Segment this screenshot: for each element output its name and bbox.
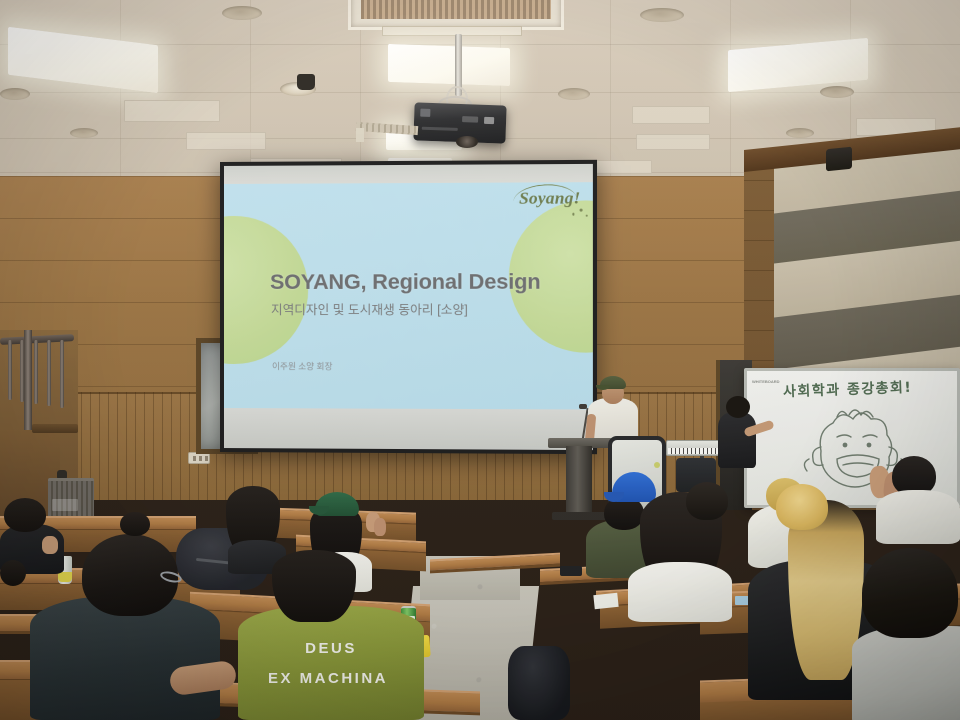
- projector-lens-icon: [456, 136, 478, 148]
- recessed-light: [640, 8, 684, 22]
- projection-screen: Soyang! SOYANG, Regional Design 지역디자인 및 …: [220, 160, 597, 454]
- ceiling-vent-frame: [382, 26, 522, 36]
- shirt-text-line-2: EX MACHINA: [238, 670, 418, 687]
- handrail-baluster: [47, 340, 51, 406]
- screen-top-margin: [224, 164, 593, 184]
- suitcase-sticker-icon: [654, 462, 660, 468]
- recessed-light: [222, 6, 262, 20]
- ceiling-access-panel: [186, 132, 266, 150]
- audience-member-head: [726, 396, 750, 418]
- slide-presenter-name: 이주원 소양 회장: [272, 360, 332, 372]
- whiteboard-brand-label: WHITEBOARD: [752, 379, 780, 384]
- audience-member-head: [0, 560, 26, 586]
- audience-member-body: [628, 562, 732, 622]
- slide-logo-text: Soyang!: [519, 188, 580, 209]
- ceiling-speaker-icon: [297, 74, 315, 90]
- slide-title: SOYANG, Regional Design: [270, 270, 541, 295]
- handrail-newel-post: [24, 330, 32, 430]
- audience-member-clapping-hand: [374, 518, 386, 536]
- blonde-bun-hair: [776, 484, 828, 530]
- projection-screen-surface: Soyang! SOYANG, Regional Design 지역디자인 및 …: [224, 164, 593, 450]
- projector-label: [462, 116, 478, 123]
- slide-logo-dot-icon: [572, 213, 575, 216]
- ceiling-access-panel: [124, 100, 220, 122]
- lectern-column: [566, 446, 592, 518]
- shirt-text-line-1: DEUS: [256, 640, 406, 657]
- lectern-base: [552, 512, 608, 520]
- recessed-light: [558, 88, 590, 100]
- paper-sheet[interactable]: [593, 593, 618, 609]
- wall-speaker-icon: [826, 147, 852, 172]
- deus-shirt-person-hair: [272, 550, 356, 622]
- audience-member-body: [876, 490, 960, 544]
- drink-cup-label: [58, 572, 72, 582]
- slide-subtitle: 지역디자인 및 도시재생 동아리 [소양]: [271, 299, 468, 318]
- slide-logo-dot-icon: [586, 215, 588, 217]
- stair-ledge: [32, 424, 78, 433]
- handrail-baluster: [60, 340, 64, 408]
- ceiling-light-panel: [8, 27, 158, 93]
- deus-shirt-person-body: [238, 606, 424, 720]
- lecture-hall-photo: Soyang! SOYANG, Regional Design 지역디자인 및 …: [0, 0, 960, 720]
- ceiling-access-panel: [632, 106, 710, 124]
- ceiling-access-panel: [636, 134, 710, 150]
- audience-member-head: [120, 512, 150, 536]
- person-at-whiteboard-body: [718, 412, 756, 468]
- radiator-label: [52, 499, 78, 511]
- smartphone[interactable]: [560, 566, 582, 576]
- recessed-light: [786, 128, 814, 138]
- projector-cable-tray: [356, 128, 364, 142]
- ceiling-light-panel: [728, 38, 868, 92]
- audience-member-head: [686, 482, 728, 520]
- ceiling-light-panel: [388, 44, 510, 86]
- presentation-slide: Soyang! SOYANG, Regional Design 지역디자인 및 …: [224, 182, 593, 417]
- recessed-light: [820, 86, 854, 98]
- audience-member-head: [4, 498, 46, 532]
- grey-hoodie-person-head: [862, 548, 958, 638]
- screen-bottom-margin: [224, 408, 593, 450]
- recessed-light: [0, 88, 30, 100]
- handrail-baluster: [34, 340, 38, 404]
- whiteboard-handwritten-text: 사회학과 종강총회!: [783, 377, 913, 402]
- audience-member-hand: [42, 536, 58, 554]
- microphone-head-icon: [579, 404, 587, 409]
- backpack-on-floor[interactable]: [508, 646, 570, 720]
- handrail-baluster: [8, 340, 12, 400]
- grey-hoodie-person-body: [852, 626, 960, 720]
- recessed-light: [70, 128, 98, 138]
- slide-logo-dot-icon: [580, 209, 583, 212]
